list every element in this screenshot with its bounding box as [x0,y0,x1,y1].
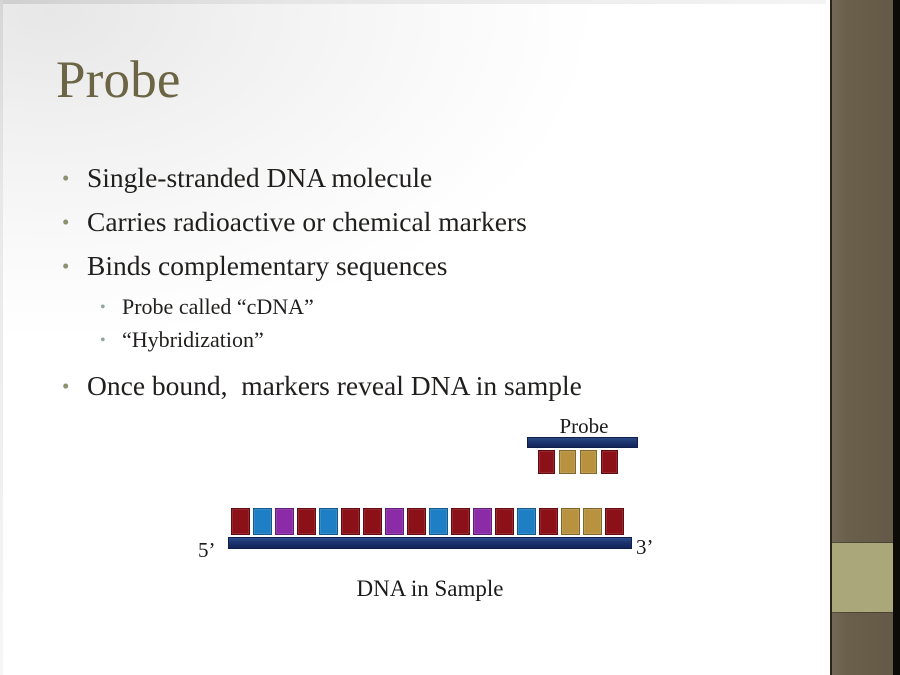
nucleotide-block [275,508,294,535]
sub-bullet-item-1: • Probe called “cDNA” [100,293,762,322]
bullet-item-3: • Binds complementary sequences [62,248,762,283]
bullet-text: Single-stranded DNA molecule [87,160,432,195]
slide-canvas: Probe • Single-stranded DNA molecule • C… [0,0,900,675]
nucleotide-block [495,508,514,535]
sub-bullet-marker-icon: • [100,300,122,316]
bullet-text: Carries radioactive or chemical markers [87,204,527,239]
nucleotide-block [559,450,576,474]
sidebar-inner-rail [830,0,832,675]
sub-bullet-text: Probe called “cDNA” [122,293,314,322]
nucleotide-block [319,508,338,535]
nucleotide-block [583,508,602,535]
background-left-edge [0,0,3,675]
nucleotide-block [429,508,448,535]
sub-bullet-marker-icon: • [100,333,122,349]
nucleotide-block [538,450,555,474]
nucleotide-block [231,508,250,535]
probe-label: Probe [528,414,640,439]
nucleotide-block [561,508,580,535]
bullet-marker-icon: • [62,212,87,233]
nucleotide-block [297,508,316,535]
sample-3-prime-label: 3’ [636,535,654,560]
nucleotide-block [473,508,492,535]
nucleotide-block [341,508,360,535]
nucleotide-block [601,450,618,474]
nucleotide-block [407,508,426,535]
nucleotide-block [363,508,382,535]
slide-title: Probe [56,52,181,109]
sample-base-blocks [231,508,624,535]
sidebar-accent-block [832,543,893,612]
nucleotide-block [385,508,404,535]
probe-base-blocks [538,450,618,474]
sidebar-outer-rail [893,0,900,675]
sample-backbone [228,537,632,549]
sub-bullet-item-2: • “Hybridization” [100,326,762,355]
bullet-list: • Single-stranded DNA molecule • Carries… [62,160,762,412]
bullet-text: Binds complementary sequences [87,248,447,283]
sub-bullet-text: “Hybridization” [122,326,264,355]
sample-caption: DNA in Sample [228,576,632,602]
nucleotide-block [580,450,597,474]
sample-5-prime-label: 5’ [198,538,216,563]
bullet-item-2: • Carries radioactive or chemical marker… [62,204,762,239]
probe-backbone [527,437,638,448]
bullet-item-4: • Once bound, markers reveal DNA in samp… [62,368,762,403]
background-top-strip [0,0,832,4]
nucleotide-block [605,508,624,535]
bullet-marker-icon: • [62,168,87,189]
nucleotide-block [539,508,558,535]
nucleotide-block [517,508,536,535]
bullet-marker-icon: • [62,256,87,277]
bullet-text: Once bound, markers reveal DNA in sample [87,368,582,403]
bullet-marker-icon: • [62,376,87,397]
bullet-item-1: • Single-stranded DNA molecule [62,160,762,195]
nucleotide-block [253,508,272,535]
nucleotide-block [451,508,470,535]
